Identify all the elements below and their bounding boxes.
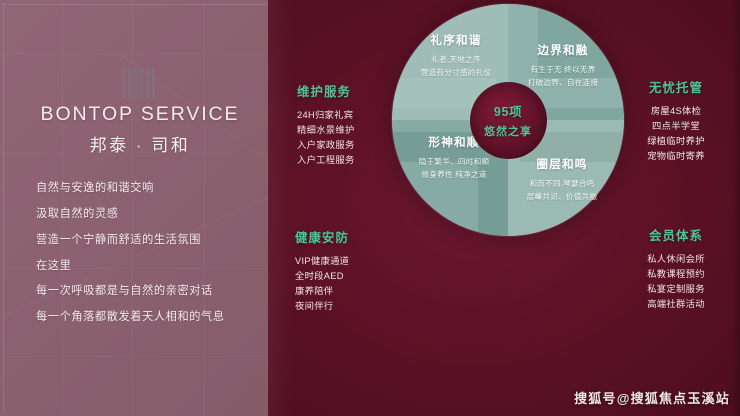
service-item: 四点半学堂: [620, 119, 732, 134]
presentation-slide: BONTOP SERVICE 邦泰 · 司和 自然与安逸的和谐交响 汲取自然的灵…: [0, 0, 740, 416]
service-item-list: 房屋4S体检 四点半学堂 绿植临时养护 宠物临时寄养: [620, 104, 732, 164]
service-group-title: 会员体系: [620, 226, 732, 244]
service-item: 私教课程预约: [620, 267, 732, 282]
tagline-line: 自然与安逸的和谐交响: [36, 183, 242, 195]
service-item: 24H归家礼宾: [292, 108, 404, 123]
service-item: 私人休闲会所: [620, 252, 732, 267]
quadrant-subline: 礼者,天地之序: [398, 53, 514, 66]
service-item: VIP健康通道: [290, 254, 402, 269]
service-item: 精细水景维护: [292, 123, 404, 138]
brand-name-english: BONTOP SERVICE: [32, 104, 242, 125]
tagline-line: 营造一个宁静而舒适的生活氛围: [36, 235, 242, 247]
left-content: BONTOP SERVICE 邦泰 · 司和 自然与安逸的和谐交响 汲取自然的灵…: [0, 104, 268, 338]
right-panel: 维护服务 24H归家礼宾 精细水景维护 入户家政服务 入户工程服务 无忧托管 房…: [268, 0, 740, 416]
service-item: 入户家政服务: [292, 138, 404, 153]
panel-top-edge-line: [3, 4, 268, 5]
quadrant-subline: 有生于无 终以无界: [504, 63, 622, 76]
service-item: 高端社群活动: [620, 297, 732, 312]
decorative-seal-icon: [122, 68, 156, 98]
service-group-custody: 无忧托管 房屋4S体检 四点半学堂 绿植临时养护 宠物临时寄养: [620, 78, 732, 164]
diagram-quadrant-top-left: 礼序和谐 礼者,天地之序 营造有分寸感的礼仪: [398, 32, 514, 80]
hub-count: 95项: [494, 101, 522, 120]
hub-label: 悠然之享: [484, 123, 532, 139]
diagram-quadrant-top-right: 边界和融 有生于无 终以无界 打破边界、自在连接: [504, 42, 622, 90]
left-panel: BONTOP SERVICE 邦泰 · 司和 自然与安逸的和谐交响 汲取自然的灵…: [0, 0, 268, 416]
quadrant-title: 边界和融: [504, 42, 622, 58]
service-item: 宠物临时寄养: [620, 149, 732, 164]
quadrant-subline: 和而不同,琴瑟合鸣: [502, 177, 622, 190]
panel-right-shadow: [731, 0, 740, 416]
service-group-membership: 会员体系 私人休闲会所 私教课程预约 私宴定制服务 高端社群活动: [620, 226, 732, 312]
panel-sheen: [268, 0, 294, 416]
tagline-line: 在这里: [36, 261, 242, 273]
service-group-maintenance: 维护服务 24H归家礼宾 精细水景维护 入户家政服务 入户工程服务: [292, 82, 404, 168]
service-group-title: 无忧托管: [620, 78, 732, 96]
diagram-quadrant-bottom-right: 圈层和鸣 和而不同,琴瑟合鸣 层峰共识、价值共振: [502, 156, 622, 204]
service-group-health: 健康安防 VIP健康通道 全时段AED 康养陪伴 夜间伴行: [290, 228, 402, 314]
service-item-list: VIP健康通道 全时段AED 康养陪伴 夜间伴行: [290, 254, 402, 314]
source-watermark: 搜狐号@搜狐焦点玉溪站: [574, 388, 730, 407]
quadrant-title: 礼序和谐: [398, 32, 514, 48]
quadrant-subline: 层峰共识、价值共振: [502, 190, 622, 203]
central-circle-diagram: 礼序和谐 礼者,天地之序 营造有分寸感的礼仪 边界和融 有生于无 终以无界 打破…: [392, 4, 624, 236]
tagline-line: 每一次呼吸都是与自然的亲密对话: [36, 286, 242, 298]
service-item: 全时段AED: [290, 269, 402, 284]
service-item: 私宴定制服务: [620, 282, 732, 297]
brand-name-chinese: 邦泰 · 司和: [32, 131, 242, 156]
service-item: 绿植临时养护: [620, 134, 732, 149]
quadrant-title: 圈层和鸣: [502, 156, 622, 172]
service-group-title: 维护服务: [292, 82, 404, 100]
service-item-list: 24H归家礼宾 精细水景维护 入户家政服务 入户工程服务: [292, 108, 404, 168]
diagram-center-hub: 95项 悠然之享: [470, 82, 547, 159]
service-item: 入户工程服务: [292, 153, 404, 168]
service-item-list: 私人休闲会所 私教课程预约 私宴定制服务 高端社群活动: [620, 252, 732, 312]
service-item: 房屋4S体检: [620, 104, 732, 119]
service-group-title: 健康安防: [290, 228, 402, 246]
tagline-block: 自然与安逸的和谐交响 汲取自然的灵感 营造一个宁静而舒适的生活氛围 在这里 每一…: [32, 183, 242, 324]
service-item: 康养陪伴: [290, 284, 402, 299]
quadrant-subline: 营造有分寸感的礼仪: [398, 66, 514, 79]
tagline-line: 汲取自然的灵感: [36, 209, 242, 221]
tagline-line: 每一个角落都散发着天人相和的气息: [36, 312, 242, 324]
quadrant-subline: 修身养性 纯净之道: [394, 168, 514, 181]
service-item: 夜间伴行: [290, 299, 402, 314]
